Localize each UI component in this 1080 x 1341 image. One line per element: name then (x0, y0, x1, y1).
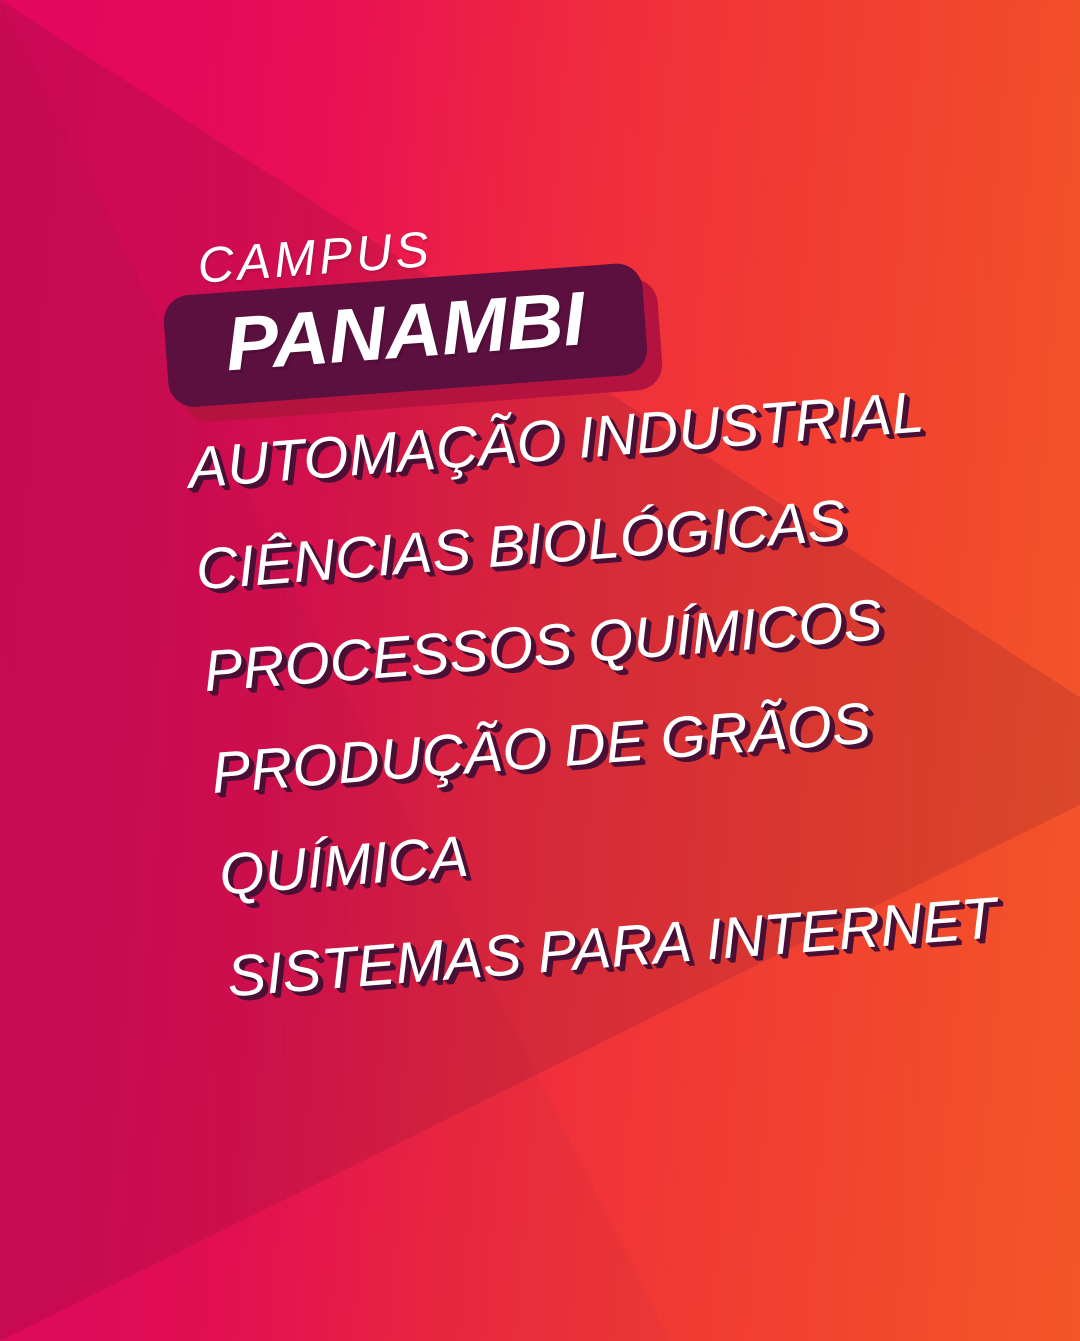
course-list: AUTOMAÇÃO INDUSTRIAL CIÊNCIAS BIOLÓGICAS… (186, 374, 1080, 1006)
campus-poster: CAMPUS PANAMBI AUTOMAÇÃO INDUSTRIAL CIÊN… (0, 0, 1080, 1341)
course-list-item: QUÍMICA (217, 781, 1079, 905)
course-list-item: CIÊNCIAS BIOLÓGICAS (194, 476, 1056, 600)
course-list-item: PROCESSOS QUÍMICOS (202, 577, 1064, 701)
poster-content: CAMPUS PANAMBI AUTOMAÇÃO INDUSTRIAL CIÊN… (0, 0, 1080, 1341)
campus-name-label: PANAMBI (223, 281, 587, 383)
course-list-item: SISTEMAS PARA INTERNET (225, 883, 1080, 1007)
course-list-item: PRODUÇÃO DE GRÃOS (209, 679, 1071, 803)
